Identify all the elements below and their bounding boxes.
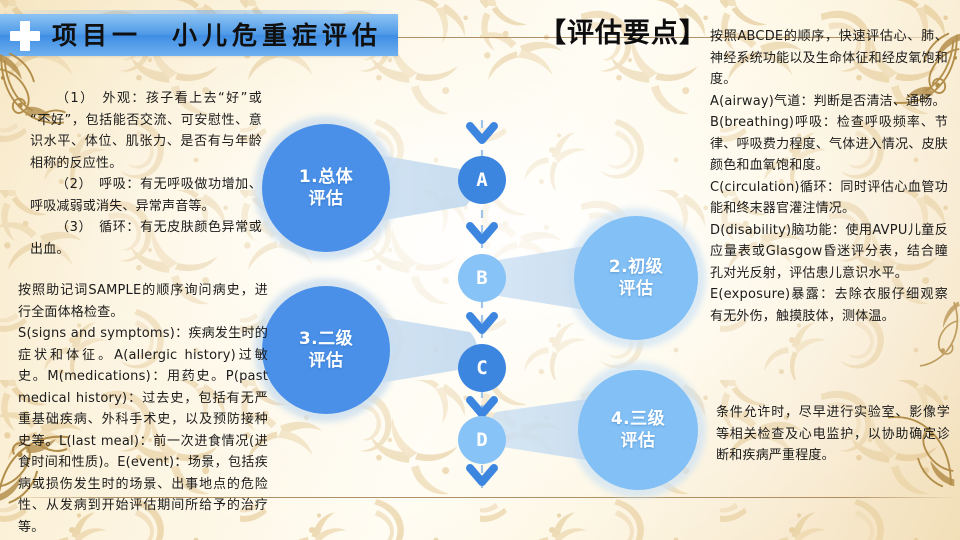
- paragraph: E(exposure)暴露：去除衣服仔细观察有无外伤，触摸肢体，测体温。: [710, 284, 948, 327]
- paragraph: （2） 呼吸：有无呼吸做功增加、呼吸减弱或消失、异常声音等。: [30, 174, 262, 217]
- flow-node-3-circle: [262, 286, 390, 414]
- paragraph: 条件允许时，尽早进行实验室、影像学等相关检查及心电监护，以协助确定诊断和疾病严重…: [716, 402, 950, 467]
- flow-badge-b-circle: [458, 254, 506, 302]
- text-block-overall-assessment: （1） 外观：孩子看上去“好”或“不好”，包括能否交流、可安慰性、意识水平、体位…: [30, 88, 262, 260]
- slide-canvas: 项目一 小儿危重症评估 【评估要点】 （1） 外观：孩子看上去“好”或“不好”，…: [0, 0, 960, 540]
- assessment-flow-diagram: 1.总体 评估 2.初级 评估 3.二级 评估 4.三级 评估 A B C D: [246, 110, 716, 500]
- paragraph: 按照ABCDE的顺序，快速评估心、肺、神经系统功能以及生命体征和经皮氧饱和度。: [710, 26, 948, 91]
- paragraph: 按照助记词SAMPLE的顺序询问病史，进行全面体格检查。: [18, 280, 268, 323]
- paragraph: （3） 循环：有无皮肤颜色异常或出血。: [30, 217, 262, 260]
- text-block-tertiary-assessment: 条件允许时，尽早进行实验室、影像学等相关检查及心电监护，以协助确定诊断和疾病严重…: [716, 402, 950, 467]
- paragraph: A(airway)气道：判断是否清洁、通畅。: [710, 91, 948, 113]
- paragraph: B(breathing)呼吸：检查呼吸频率、节律、呼吸费力程度、气体进入情况、皮…: [710, 112, 948, 177]
- paragraph: D(disability)脑功能：使用AVPU儿童反应量表或Glasgow昏迷评…: [710, 220, 948, 285]
- page-title: 【评估要点】: [518, 11, 728, 50]
- flow-node-2-circle: [574, 216, 698, 340]
- paragraph: S(signs and symptoms)：疾病发生时的症状和体征。A(alle…: [18, 323, 268, 538]
- text-block-secondary-assessment: 按照助记词SAMPLE的顺序询问病史，进行全面体格检查。 S(signs and…: [18, 280, 268, 538]
- chapter-title: 项目一 小儿危重症评估: [52, 20, 382, 52]
- flow-badge-c-circle: [458, 344, 506, 392]
- text-block-primary-assessment: 按照ABCDE的顺序，快速评估心、肺、神经系统功能以及生命体征和经皮氧饱和度。 …: [710, 26, 948, 327]
- flow-node-1-circle: [262, 124, 390, 252]
- medical-cross-icon: [10, 21, 40, 51]
- flow-node-4-circle: [578, 370, 698, 490]
- paragraph: C(circulation)循环：同时评估心血管功能和终末器官灌注情况。: [710, 177, 948, 220]
- flow-badge-a-circle: [458, 156, 506, 204]
- paragraph: （1） 外观：孩子看上去“好”或“不好”，包括能否交流、可安慰性、意识水平、体位…: [30, 88, 262, 174]
- flow-badge-d-circle: [458, 416, 506, 464]
